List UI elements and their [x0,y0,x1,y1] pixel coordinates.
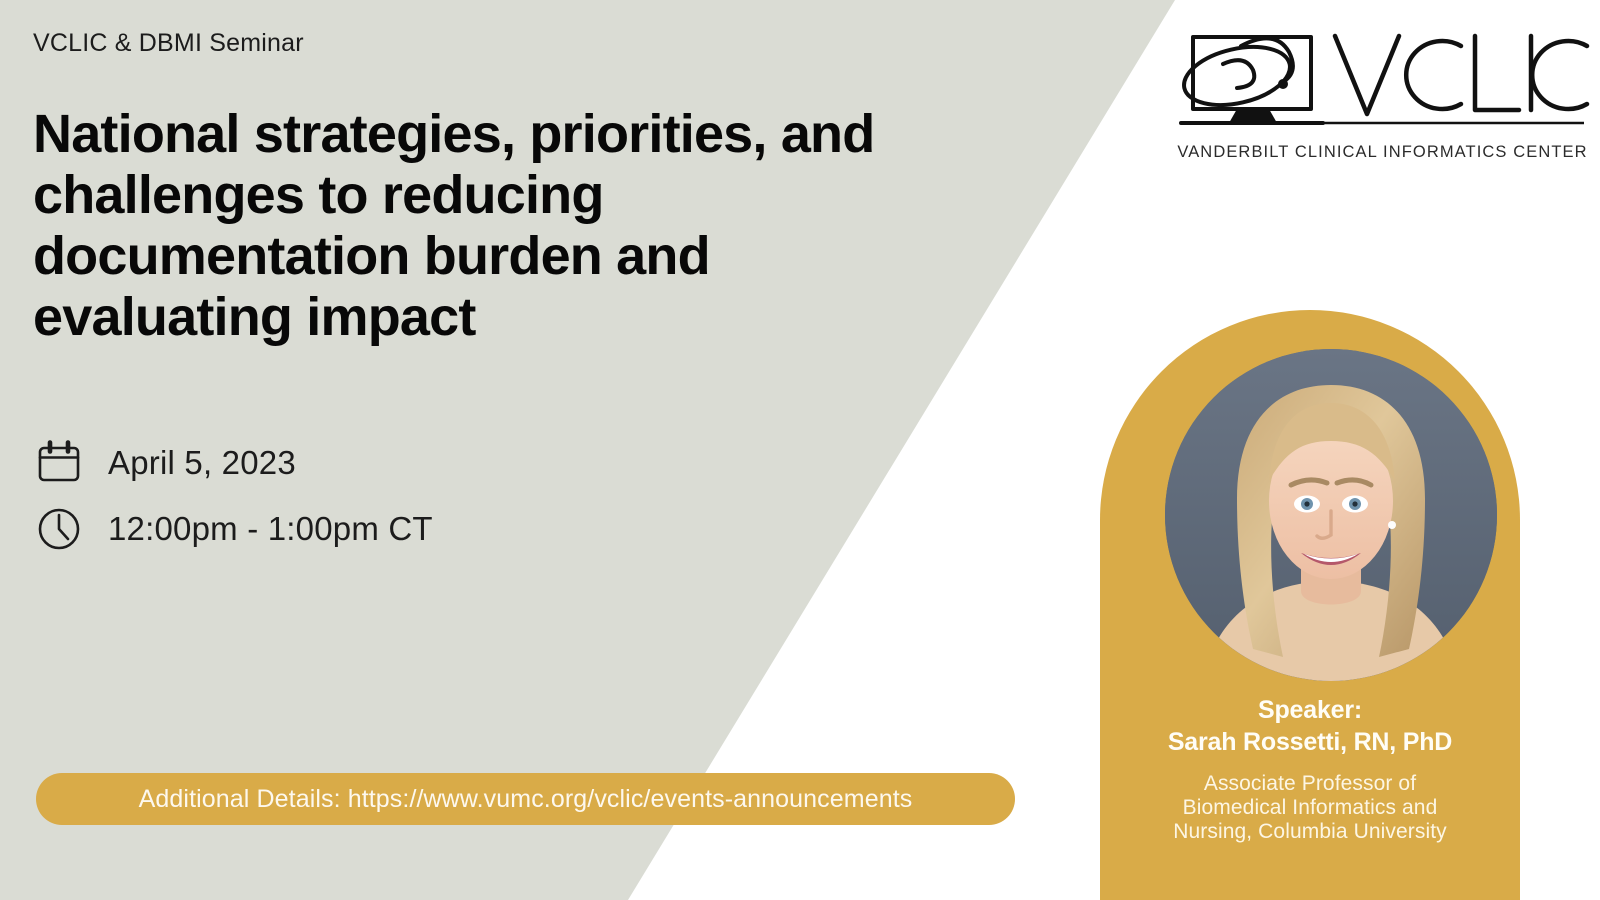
event-time-value: 12:00pm - 1:00pm CT [108,510,433,548]
left-content-column: VCLIC & DBMI Seminar National strategies… [33,0,1073,900]
title-line: evaluating impact [33,287,1053,348]
logo-tagline: VANDERBILT CLINICAL INFORMATICS CENTER [1175,143,1590,162]
event-time-row: 12:00pm - 1:00pm CT [33,496,433,562]
seminar-flyer: VCLIC & DBMI Seminar National strategies… [0,0,1600,900]
event-date-value: April 5, 2023 [108,444,296,482]
event-meta-list: April 5, 2023 12:00pm - 1:00pm CT [33,430,433,562]
monitor-stethoscope-icon [1175,22,1590,142]
speaker-avatar [1165,349,1497,681]
affiliation-line: Biomedical Informatics and [1100,796,1520,820]
calendar-icon [33,437,85,489]
speaker-affiliation: Associate Professor of Biomedical Inform… [1100,772,1520,844]
vclic-logo: VANDERBILT CLINICAL INFORMATICS CENTER [1175,22,1590,162]
speaker-info: Speaker: Sarah Rossetti, RN, PhD Associa… [1100,694,1520,844]
title-line: National strategies, priorities, and [33,104,1053,165]
speaker-name: Sarah Rossetti, RN, PhD [1100,726,1520,758]
affiliation-line: Nursing, Columbia University [1100,820,1520,844]
speaker-role-label: Speaker: [1100,694,1520,726]
page-title: National strategies, priorities, and cha… [33,104,1053,348]
clock-icon [33,503,85,555]
event-date-row: April 5, 2023 [33,430,433,496]
additional-details-link[interactable]: Additional Details: https://www.vumc.org… [36,773,1015,825]
eyebrow-series-label: VCLIC & DBMI Seminar [33,29,304,58]
title-line: challenges to reducing [33,165,1053,226]
title-line: documentation burden and [33,226,1053,287]
affiliation-line: Associate Professor of [1100,772,1520,796]
additional-details-label: Additional Details: https://www.vumc.org… [139,785,913,814]
